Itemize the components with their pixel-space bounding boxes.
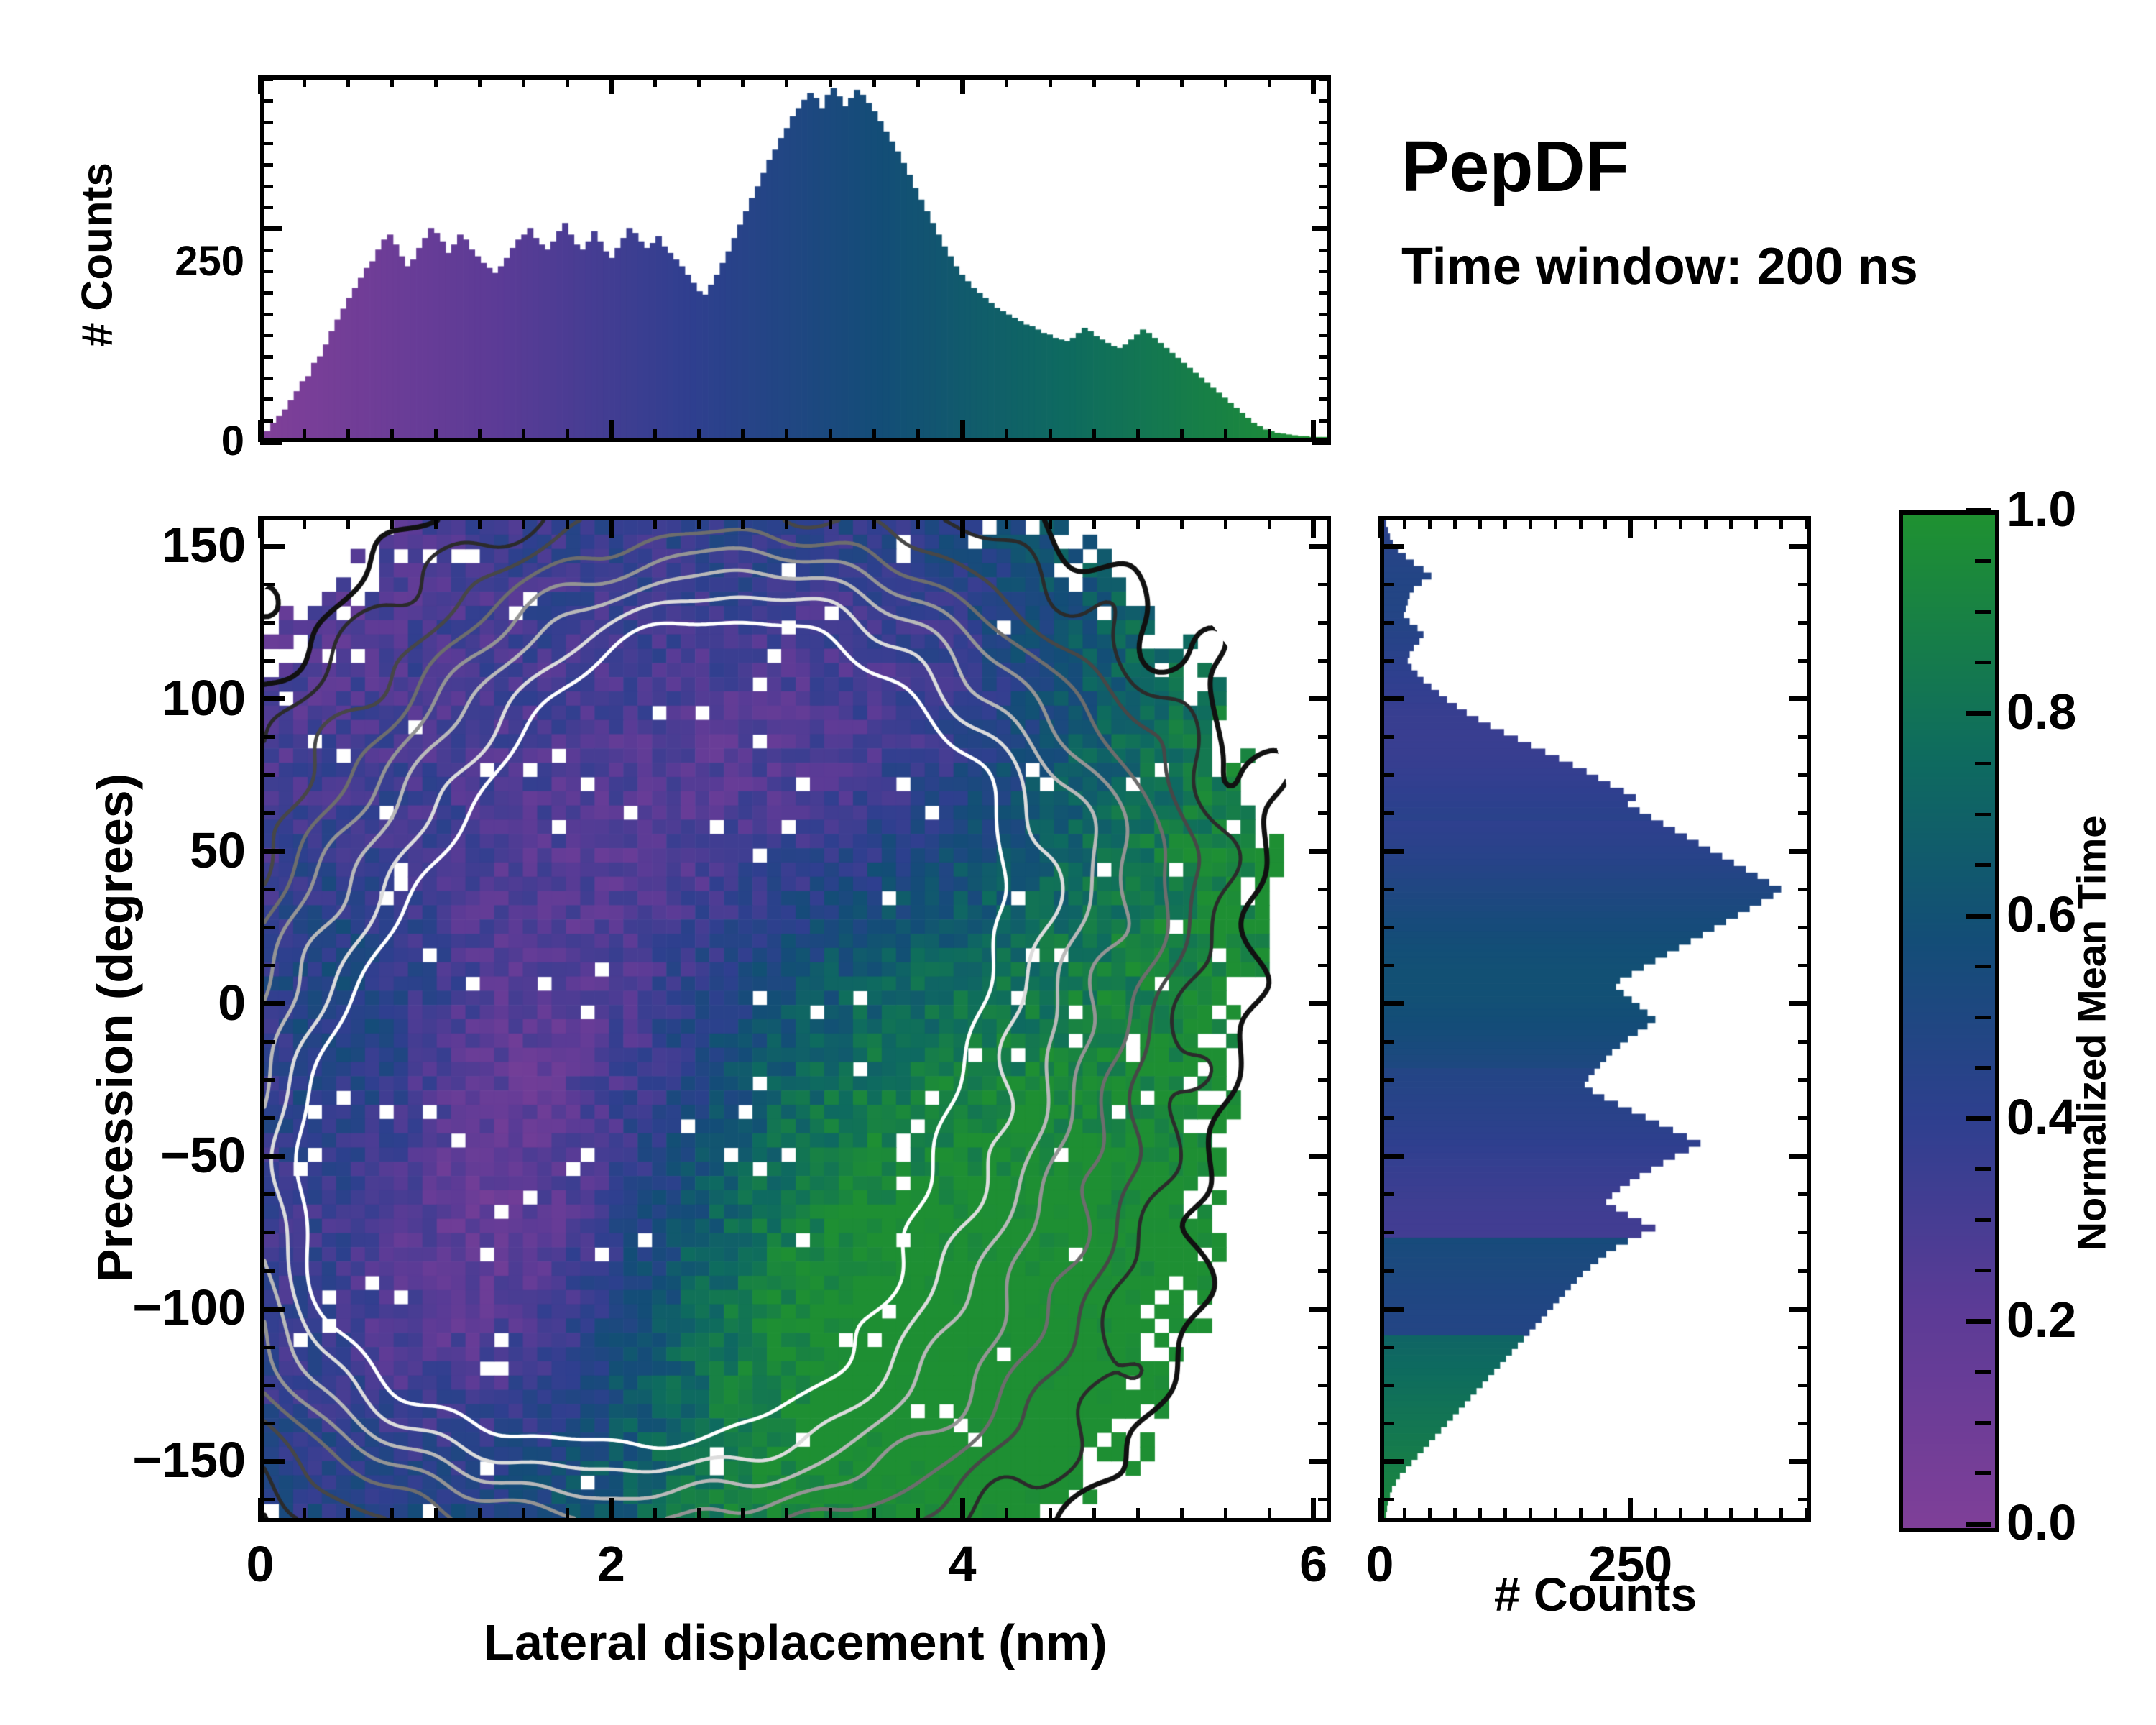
colorbar-tick-minor	[1975, 1421, 1991, 1425]
colorbar-tick-minor	[1975, 965, 1991, 968]
main-xtick-major	[960, 1498, 965, 1522]
top-ytick-right	[1319, 142, 1331, 145]
top-xtick-top	[785, 75, 788, 87]
right-xtick-minor	[1754, 1508, 1758, 1522]
top-ytick-minor	[260, 355, 273, 359]
colorbar-tick-major	[1966, 914, 1991, 919]
top-xtick	[785, 429, 788, 442]
main-xtick-top	[741, 516, 745, 529]
main-xtick-top	[1180, 516, 1184, 529]
right-ytick-right	[1798, 659, 1811, 663]
top-xtick	[1005, 429, 1008, 442]
right-xtick-label-250: 250	[1566, 1535, 1695, 1593]
main-ytick-right	[1309, 1154, 1331, 1159]
right-xtick-minor	[1529, 1508, 1532, 1522]
top-ytick-major	[260, 226, 282, 231]
right-xtick-minor	[1579, 1508, 1583, 1522]
main-ytick-label-4: −50	[23, 1126, 246, 1184]
main-xtick-top	[653, 516, 657, 529]
right-ytick-right	[1789, 1001, 1811, 1006]
main-xtick-top	[829, 516, 832, 529]
top-xtick	[390, 429, 394, 442]
right-ytick	[1380, 1192, 1394, 1196]
top-ytick-right	[1319, 206, 1331, 209]
main-ytick-label-2: 50	[23, 822, 246, 879]
main-xtick-minor	[303, 1508, 306, 1522]
right-xtick-top	[1453, 516, 1457, 529]
main-ytick-major	[260, 544, 285, 549]
main-ytick-label-3: 0	[23, 974, 246, 1031]
main-ytick-right	[1318, 888, 1331, 891]
main-xtick-minor	[1268, 1508, 1271, 1522]
top-ytick-right	[1319, 163, 1331, 167]
main-ytick-major	[260, 696, 285, 701]
top-ytick-right	[1319, 377, 1331, 380]
top-xtick-top	[1311, 75, 1316, 94]
right-xtick-top	[1654, 516, 1657, 529]
main-ytick-minor	[260, 1230, 275, 1234]
main-ytick-right	[1318, 659, 1331, 663]
top-ytick-right	[1319, 397, 1331, 401]
right-xtick-top	[1579, 516, 1583, 529]
right-xtick-top	[1628, 516, 1633, 538]
right-ytick	[1380, 1001, 1404, 1006]
top-xtick	[1180, 429, 1184, 442]
top-xtick-top	[697, 75, 701, 87]
main-xtick-minor	[1136, 1508, 1140, 1522]
main-xtick-minor	[697, 1508, 701, 1522]
top-ytick-minor	[260, 99, 273, 103]
colorbar-tick-major	[1966, 711, 1991, 716]
right-xtick-top	[1779, 516, 1783, 529]
right-ytick-right	[1798, 811, 1811, 815]
top-xtick	[697, 429, 701, 442]
main-xtick-top	[1224, 516, 1227, 529]
colorbar-tick-minor	[1975, 1471, 1991, 1475]
main-ytick-right	[1318, 1040, 1331, 1044]
colorbar-tick-minor	[1975, 1218, 1991, 1222]
right-ytick-right	[1798, 1384, 1811, 1387]
right-xtick-label-0: 0	[1315, 1535, 1445, 1593]
colorbar-tick-major	[1966, 1319, 1991, 1324]
top-ytick-right	[1319, 270, 1331, 273]
top-ytick-minor	[260, 206, 273, 209]
right-ytick	[1380, 1422, 1394, 1425]
main-xtick-minor	[522, 1508, 525, 1522]
colorbar-label: Normalized Mean Time	[2068, 746, 2115, 1321]
right-ytick-right	[1798, 1192, 1811, 1196]
page-title: PepDF	[1401, 126, 1629, 208]
main-xtick-minor	[1005, 1508, 1008, 1522]
right-xtick-minor	[1679, 1508, 1682, 1522]
top-xtick	[346, 429, 350, 442]
main-ytick-major	[260, 1307, 285, 1312]
main-xtick-top	[258, 516, 263, 538]
top-xtick	[478, 429, 482, 442]
main-xtick-label-2: 2	[568, 1535, 655, 1593]
main-xtick-minor	[478, 1508, 482, 1522]
top-xtick-top	[1049, 75, 1052, 87]
main-plot-xlabel: Lateral displacement (nm)	[260, 1614, 1331, 1671]
main-ytick-label-0: 150	[23, 516, 246, 574]
top-ytick-right	[1319, 249, 1331, 252]
top-xtick-top	[522, 75, 525, 87]
top-ytick-right	[1319, 333, 1331, 337]
right-ytick	[1380, 1116, 1394, 1120]
top-ytick-right	[1319, 121, 1331, 124]
top-histogram-canvas	[264, 80, 1327, 438]
main-ytick-minor	[260, 1269, 275, 1273]
main-ytick-right	[1318, 964, 1331, 967]
main-ytick-right	[1318, 1498, 1331, 1501]
top-xtick	[829, 429, 832, 442]
main-ytick-minor	[260, 1040, 275, 1044]
main-ytick-right	[1318, 1345, 1331, 1349]
right-ytick	[1380, 659, 1394, 663]
top-xtick	[916, 429, 920, 442]
main-ytick-right	[1318, 1422, 1331, 1425]
top-xtick-top	[346, 75, 350, 87]
main-ytick-minor	[260, 735, 275, 739]
right-ytick-right	[1798, 1040, 1811, 1044]
right-ytick	[1380, 1154, 1404, 1159]
main-xtick-minor	[785, 1508, 788, 1522]
right-ytick	[1380, 1269, 1394, 1273]
right-ytick	[1380, 1459, 1404, 1464]
colorbar-tick-minor	[1975, 1066, 1991, 1069]
top-xtick	[1136, 429, 1140, 442]
main-xtick-top	[1092, 516, 1096, 529]
main-ytick-right	[1318, 583, 1331, 586]
top-xtick	[1224, 429, 1227, 442]
right-xtick-top	[1478, 516, 1482, 529]
page-subtitle: Time window: 200 ns	[1401, 237, 1918, 296]
main-xtick-minor	[741, 1508, 745, 1522]
main-xtick-top	[346, 516, 350, 529]
top-ytick-minor	[260, 333, 273, 337]
right-xtick-minor	[1654, 1508, 1657, 1522]
colorbar-tick-label-0.8: 0.8	[2007, 683, 2156, 740]
top-ytick-minor	[260, 121, 273, 124]
main-ytick-minor	[260, 1422, 275, 1425]
top-xtick	[1092, 429, 1096, 442]
main-ytick-right	[1318, 735, 1331, 739]
main-ytick-minor	[260, 926, 275, 929]
right-xtick-top	[1428, 516, 1432, 529]
main-ytick-minor	[260, 1192, 275, 1196]
colorbar-tick-minor	[1975, 762, 1991, 765]
top-xtick-top	[434, 75, 438, 87]
right-ytick	[1380, 1498, 1394, 1501]
main-ytick-minor	[260, 1498, 275, 1501]
top-ytick-minor	[260, 163, 273, 167]
top-histogram-ylabel: # Counts	[73, 126, 122, 385]
top-ytick-minor	[260, 377, 273, 380]
top-xtick-top	[916, 75, 920, 87]
top-ytick-minor	[260, 397, 273, 401]
main-xtick-major	[258, 1498, 263, 1522]
colorbar-tick-minor	[1975, 1370, 1991, 1374]
top-histogram-ytick-0: 0	[165, 417, 244, 465]
main-ytick-right	[1318, 1078, 1331, 1082]
main-xtick-label-0: 0	[217, 1535, 303, 1593]
top-xtick	[303, 429, 306, 442]
main-ytick-right	[1309, 1459, 1331, 1464]
top-xtick	[741, 429, 745, 442]
main-xtick-top	[697, 516, 701, 529]
colorbar-tick-minor	[1975, 813, 1991, 816]
main-ytick-right	[1309, 849, 1331, 854]
right-xtick-major	[1378, 1498, 1383, 1522]
right-xtick-top	[1378, 516, 1383, 538]
colorbar-tick-label-0.0: 0.0	[2007, 1494, 2156, 1551]
right-ytick	[1380, 1307, 1404, 1312]
colorbar-tick-major	[1966, 1116, 1991, 1121]
main-xtick-top	[390, 516, 394, 529]
main-ytick-right	[1318, 621, 1331, 625]
top-ytick-major	[260, 440, 282, 445]
top-xtick	[522, 429, 525, 442]
right-xtick-minor	[1478, 1508, 1482, 1522]
right-ytick	[1380, 1040, 1394, 1044]
top-ytick-right	[1319, 185, 1331, 188]
main-ytick-major	[260, 849, 285, 854]
main-ytick-minor	[260, 888, 275, 891]
top-ytick-minor	[260, 185, 273, 188]
main-heatmap-canvas	[264, 520, 1327, 1518]
right-xtick-minor	[1704, 1508, 1708, 1522]
right-xtick-minor	[1805, 1508, 1808, 1522]
right-ytick	[1380, 1078, 1394, 1082]
top-xtick-top	[303, 75, 306, 87]
right-ytick	[1380, 849, 1404, 854]
main-ytick-right	[1318, 926, 1331, 929]
right-ytick	[1380, 773, 1394, 777]
right-ytick-right	[1789, 1154, 1811, 1159]
top-xtick-top	[653, 75, 657, 87]
colorbar-tick-label-0.2: 0.2	[2007, 1291, 2156, 1348]
main-xtick-top	[1005, 516, 1008, 529]
right-xtick-top	[1679, 516, 1682, 529]
top-ytick-minor	[260, 142, 273, 145]
main-ytick-major	[260, 1001, 285, 1006]
right-ytick-right	[1789, 544, 1811, 549]
right-xtick-top	[1554, 516, 1557, 529]
colorbar-tick-minor	[1975, 559, 1991, 563]
main-ytick-minor	[260, 773, 275, 777]
top-xtick	[960, 420, 965, 442]
main-xtick-top	[960, 516, 965, 538]
main-ytick-label-1: 100	[23, 669, 246, 727]
main-xtick-minor	[390, 1508, 394, 1522]
main-ytick-right	[1318, 1384, 1331, 1387]
right-ytick-right	[1789, 1459, 1811, 1464]
top-xtick-top	[258, 75, 263, 94]
top-xtick	[258, 420, 263, 442]
main-xtick-major	[1311, 1498, 1316, 1522]
top-ytick-right	[1312, 226, 1331, 231]
top-ytick-right	[1319, 291, 1331, 295]
main-ytick-minor	[260, 1078, 275, 1082]
top-xtick-top	[390, 75, 394, 87]
right-ytick-right	[1798, 583, 1811, 586]
right-xtick-minor	[1453, 1508, 1457, 1522]
main-xtick-minor	[346, 1508, 350, 1522]
top-xtick-top	[478, 75, 482, 87]
top-ytick-right	[1319, 99, 1331, 103]
main-ytick-right	[1309, 544, 1331, 549]
top-xtick	[434, 429, 438, 442]
top-xtick-top	[1180, 75, 1184, 87]
right-ytick	[1380, 926, 1394, 929]
right-histogram-canvas	[1384, 520, 1807, 1518]
main-ytick-right	[1309, 696, 1331, 701]
right-xtick-top	[1754, 516, 1758, 529]
main-xtick-top	[1311, 516, 1316, 538]
main-ytick-right	[1318, 1230, 1331, 1234]
main-ytick-minor	[260, 964, 275, 967]
top-ytick-minor	[260, 291, 273, 295]
main-xtick-minor	[872, 1508, 876, 1522]
main-xtick-top	[916, 516, 920, 529]
main-xtick-minor	[1049, 1508, 1052, 1522]
colorbar-tick-major	[1966, 1522, 1991, 1527]
colorbar-tick-label-1.0: 1.0	[2007, 480, 2156, 538]
right-ytick-right	[1798, 1498, 1811, 1501]
main-xtick-top	[522, 516, 525, 529]
right-ytick	[1380, 621, 1394, 625]
top-xtick-top	[1224, 75, 1227, 87]
colorbar-tick-minor	[1975, 661, 1991, 664]
main-ytick-right	[1318, 773, 1331, 777]
colorbar-tick-label-0.6: 0.6	[2007, 885, 2156, 943]
colorbar-tick-minor	[1975, 1016, 1991, 1019]
main-xtick-top	[303, 516, 306, 529]
main-ytick-minor	[260, 659, 275, 663]
right-ytick-right	[1789, 1307, 1811, 1312]
right-xtick-minor	[1779, 1508, 1783, 1522]
main-xtick-top	[1049, 516, 1052, 529]
right-ytick-right	[1798, 926, 1811, 929]
main-ytick-major	[260, 1459, 285, 1464]
main-xtick-top	[609, 516, 614, 538]
main-ytick-label-6: −150	[23, 1431, 246, 1489]
top-xtick	[566, 429, 569, 442]
right-ytick-right	[1798, 1345, 1811, 1349]
top-xtick-top	[741, 75, 745, 87]
right-xtick-top	[1704, 516, 1708, 529]
main-ytick-minor	[260, 621, 275, 625]
top-ytick-minor	[260, 270, 273, 273]
right-ytick-right	[1798, 1230, 1811, 1234]
main-ytick-right	[1318, 1269, 1331, 1273]
colorbar-tick-minor	[1975, 610, 1991, 614]
top-xtick-top	[609, 75, 614, 94]
main-ytick-minor	[260, 1116, 275, 1120]
right-ytick	[1380, 735, 1394, 739]
main-xtick-minor	[653, 1508, 657, 1522]
right-ytick-right	[1798, 773, 1811, 777]
right-ytick	[1380, 583, 1394, 586]
main-ytick-minor	[260, 811, 275, 815]
right-ytick	[1380, 1345, 1394, 1349]
right-ytick	[1380, 888, 1394, 891]
top-xtick-top	[1136, 75, 1140, 87]
main-xtick-minor	[1180, 1508, 1184, 1522]
right-ytick-right	[1798, 1422, 1811, 1425]
colorbar-tick-label-0.4: 0.4	[2007, 1088, 2156, 1146]
right-ytick-right	[1798, 964, 1811, 967]
main-xtick-major	[609, 1498, 614, 1522]
top-xtick	[1049, 429, 1052, 442]
main-ytick-right	[1318, 1192, 1331, 1196]
right-ytick	[1380, 1230, 1394, 1234]
right-xtick-minor	[1428, 1508, 1432, 1522]
right-xtick-minor	[1729, 1508, 1733, 1522]
right-xtick-minor	[1403, 1508, 1406, 1522]
main-xtick-top	[478, 516, 482, 529]
top-xtick-top	[1268, 75, 1271, 87]
top-ytick-right	[1319, 313, 1331, 316]
main-xtick-minor	[829, 1508, 832, 1522]
colorbar-tick-minor	[1975, 1269, 1991, 1272]
main-ytick-right	[1309, 1001, 1331, 1006]
top-xtick	[653, 429, 657, 442]
right-ytick-right	[1798, 1116, 1811, 1120]
main-xtick-label-4: 4	[919, 1535, 1005, 1593]
main-xtick-minor	[434, 1508, 438, 1522]
right-xtick-top	[1529, 516, 1532, 529]
top-xtick-top	[1092, 75, 1096, 87]
right-xtick-minor	[1554, 1508, 1557, 1522]
main-ytick-major	[260, 1154, 285, 1159]
top-xtick-top	[1005, 75, 1008, 87]
main-ytick-minor	[260, 1384, 275, 1387]
top-xtick	[1311, 420, 1316, 442]
top-histogram-ytick-250: 250	[129, 237, 244, 285]
main-xtick-top	[434, 516, 438, 529]
colorbar-tick-minor	[1975, 1167, 1991, 1171]
right-ytick-right	[1798, 888, 1811, 891]
right-ytick	[1380, 964, 1394, 967]
right-xtick-top	[1403, 516, 1406, 529]
right-xtick-minor	[1603, 1508, 1607, 1522]
top-xtick	[609, 420, 614, 442]
right-xtick-major	[1628, 1498, 1633, 1522]
main-xtick-minor	[1092, 1508, 1096, 1522]
top-xtick-top	[829, 75, 832, 87]
main-ytick-right	[1318, 811, 1331, 815]
top-ytick-right	[1319, 419, 1331, 423]
right-ytick-right	[1798, 1078, 1811, 1082]
top-xtick-top	[566, 75, 569, 87]
colorbar-tick-minor	[1975, 863, 1991, 867]
top-ytick-right	[1319, 78, 1331, 81]
right-ytick	[1380, 544, 1404, 549]
main-ytick-minor	[260, 583, 275, 586]
main-ytick-label-5: −100	[23, 1279, 246, 1336]
main-xtick-top	[785, 516, 788, 529]
top-xtick	[872, 429, 876, 442]
main-xtick-minor	[566, 1508, 569, 1522]
right-ytick-right	[1798, 1269, 1811, 1273]
main-ytick-minor	[260, 1345, 275, 1349]
top-xtick-top	[960, 75, 965, 94]
top-xtick-top	[872, 75, 876, 87]
top-ytick-minor	[260, 313, 273, 316]
right-ytick-right	[1798, 735, 1811, 739]
main-xtick-top	[1136, 516, 1140, 529]
